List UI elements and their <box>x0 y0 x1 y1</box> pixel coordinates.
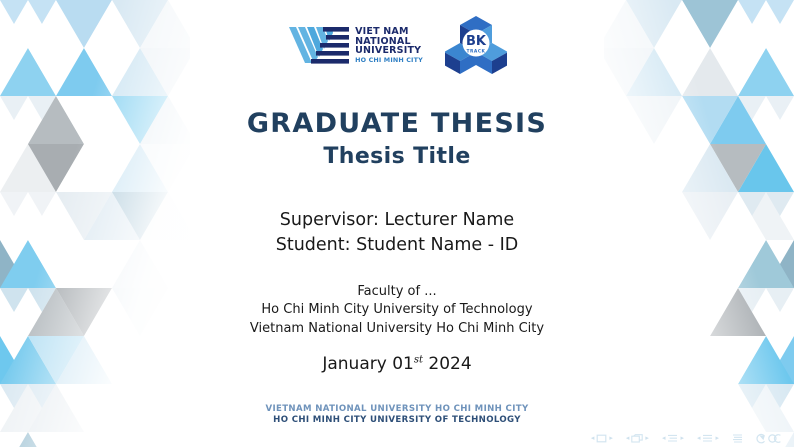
vnu-logo-text: VIET NAM NATIONAL UNIVERSITY HO CHI MINH… <box>355 27 423 63</box>
slide-prev-icon[interactable]: ◂ <box>591 435 595 442</box>
supervisor-line: Supervisor: Lecturer Name <box>0 208 794 233</box>
presentation-symbol-icon[interactable] <box>732 434 743 444</box>
people-block: Supervisor: Lecturer Name Student: Stude… <box>0 208 794 259</box>
slide-next-icon[interactable]: ▸ <box>609 435 613 442</box>
presentation-navigation[interactable] <box>732 434 743 444</box>
date-year: 2024 <box>428 354 471 374</box>
back-symbol-icon[interactable] <box>756 433 784 444</box>
footer-line-1: VIETNAM NATIONAL UNIVERSITY HO CHI MINH … <box>0 404 794 415</box>
slide-navigation[interactable]: ◂ ▸ <box>591 434 613 443</box>
parent-university-line: Vietnam National University Ho Chi Minh … <box>0 320 794 338</box>
section-symbol-icon[interactable] <box>702 434 713 443</box>
vnu-line-3: UNIVERSITY <box>355 46 423 56</box>
thesis-subtitle: Thesis Title <box>0 143 794 171</box>
vnu-mark-icon <box>287 25 351 65</box>
subsection-symbol-icon[interactable] <box>667 434 678 443</box>
page-title: GRADUATE THESIS <box>0 108 794 140</box>
vietnam-national-university-logo: VIET NAM NATIONAL UNIVERSITY HO CHI MINH… <box>287 25 423 65</box>
frame-symbol-icon[interactable] <box>631 434 643 443</box>
affiliation-block: Faculty of ... Ho Chi Minh City Universi… <box>0 283 794 338</box>
date-ordinal-suffix: st <box>414 354 423 365</box>
date-line: January 01st 2024 <box>0 354 794 374</box>
title-block: GRADUATE THESIS Thesis Title <box>0 108 794 170</box>
bk-track-logo: BK TRACK <box>445 14 507 76</box>
section-navigation[interactable]: ◂ ▸ <box>697 434 719 443</box>
vnu-line-4: HO CHI MINH CITY <box>355 57 423 64</box>
frame-prev-icon[interactable]: ◂ <box>626 435 630 442</box>
footer-block: VIETNAM NATIONAL UNIVERSITY HO CHI MINH … <box>0 404 794 427</box>
bk-subtext: TRACK <box>466 49 485 55</box>
footer-line-2: HO CHI MINH CITY UNIVERSITY OF TECHNOLOG… <box>0 415 794 426</box>
subsection-prev-icon[interactable]: ◂ <box>662 435 666 442</box>
faculty-line: Faculty of ... <box>0 283 794 301</box>
logo-row: VIET NAM NATIONAL UNIVERSITY HO CHI MINH… <box>0 14 794 76</box>
bk-letters: BK <box>466 34 487 49</box>
subsection-next-icon[interactable]: ▸ <box>680 435 684 442</box>
student-line: Student: Student Name - ID <box>0 233 794 258</box>
section-prev-icon[interactable]: ◂ <box>697 435 701 442</box>
beamer-navigation-bar[interactable]: ◂ ▸ ◂ ▸ ◂ ▸ ◂ ▸ <box>591 433 784 444</box>
date-month-day: January 01 <box>322 354 413 374</box>
back-navigation[interactable] <box>756 433 784 444</box>
subsection-navigation[interactable]: ◂ ▸ <box>662 434 684 443</box>
university-line: Ho Chi Minh City University of Technolog… <box>0 301 794 319</box>
section-next-icon[interactable]: ▸ <box>715 435 719 442</box>
frame-navigation[interactable]: ◂ ▸ <box>626 434 649 443</box>
presentation-slide: VIET NAM NATIONAL UNIVERSITY HO CHI MINH… <box>0 0 794 447</box>
slide-symbol-icon[interactable] <box>596 434 607 443</box>
frame-next-icon[interactable]: ▸ <box>645 435 649 442</box>
